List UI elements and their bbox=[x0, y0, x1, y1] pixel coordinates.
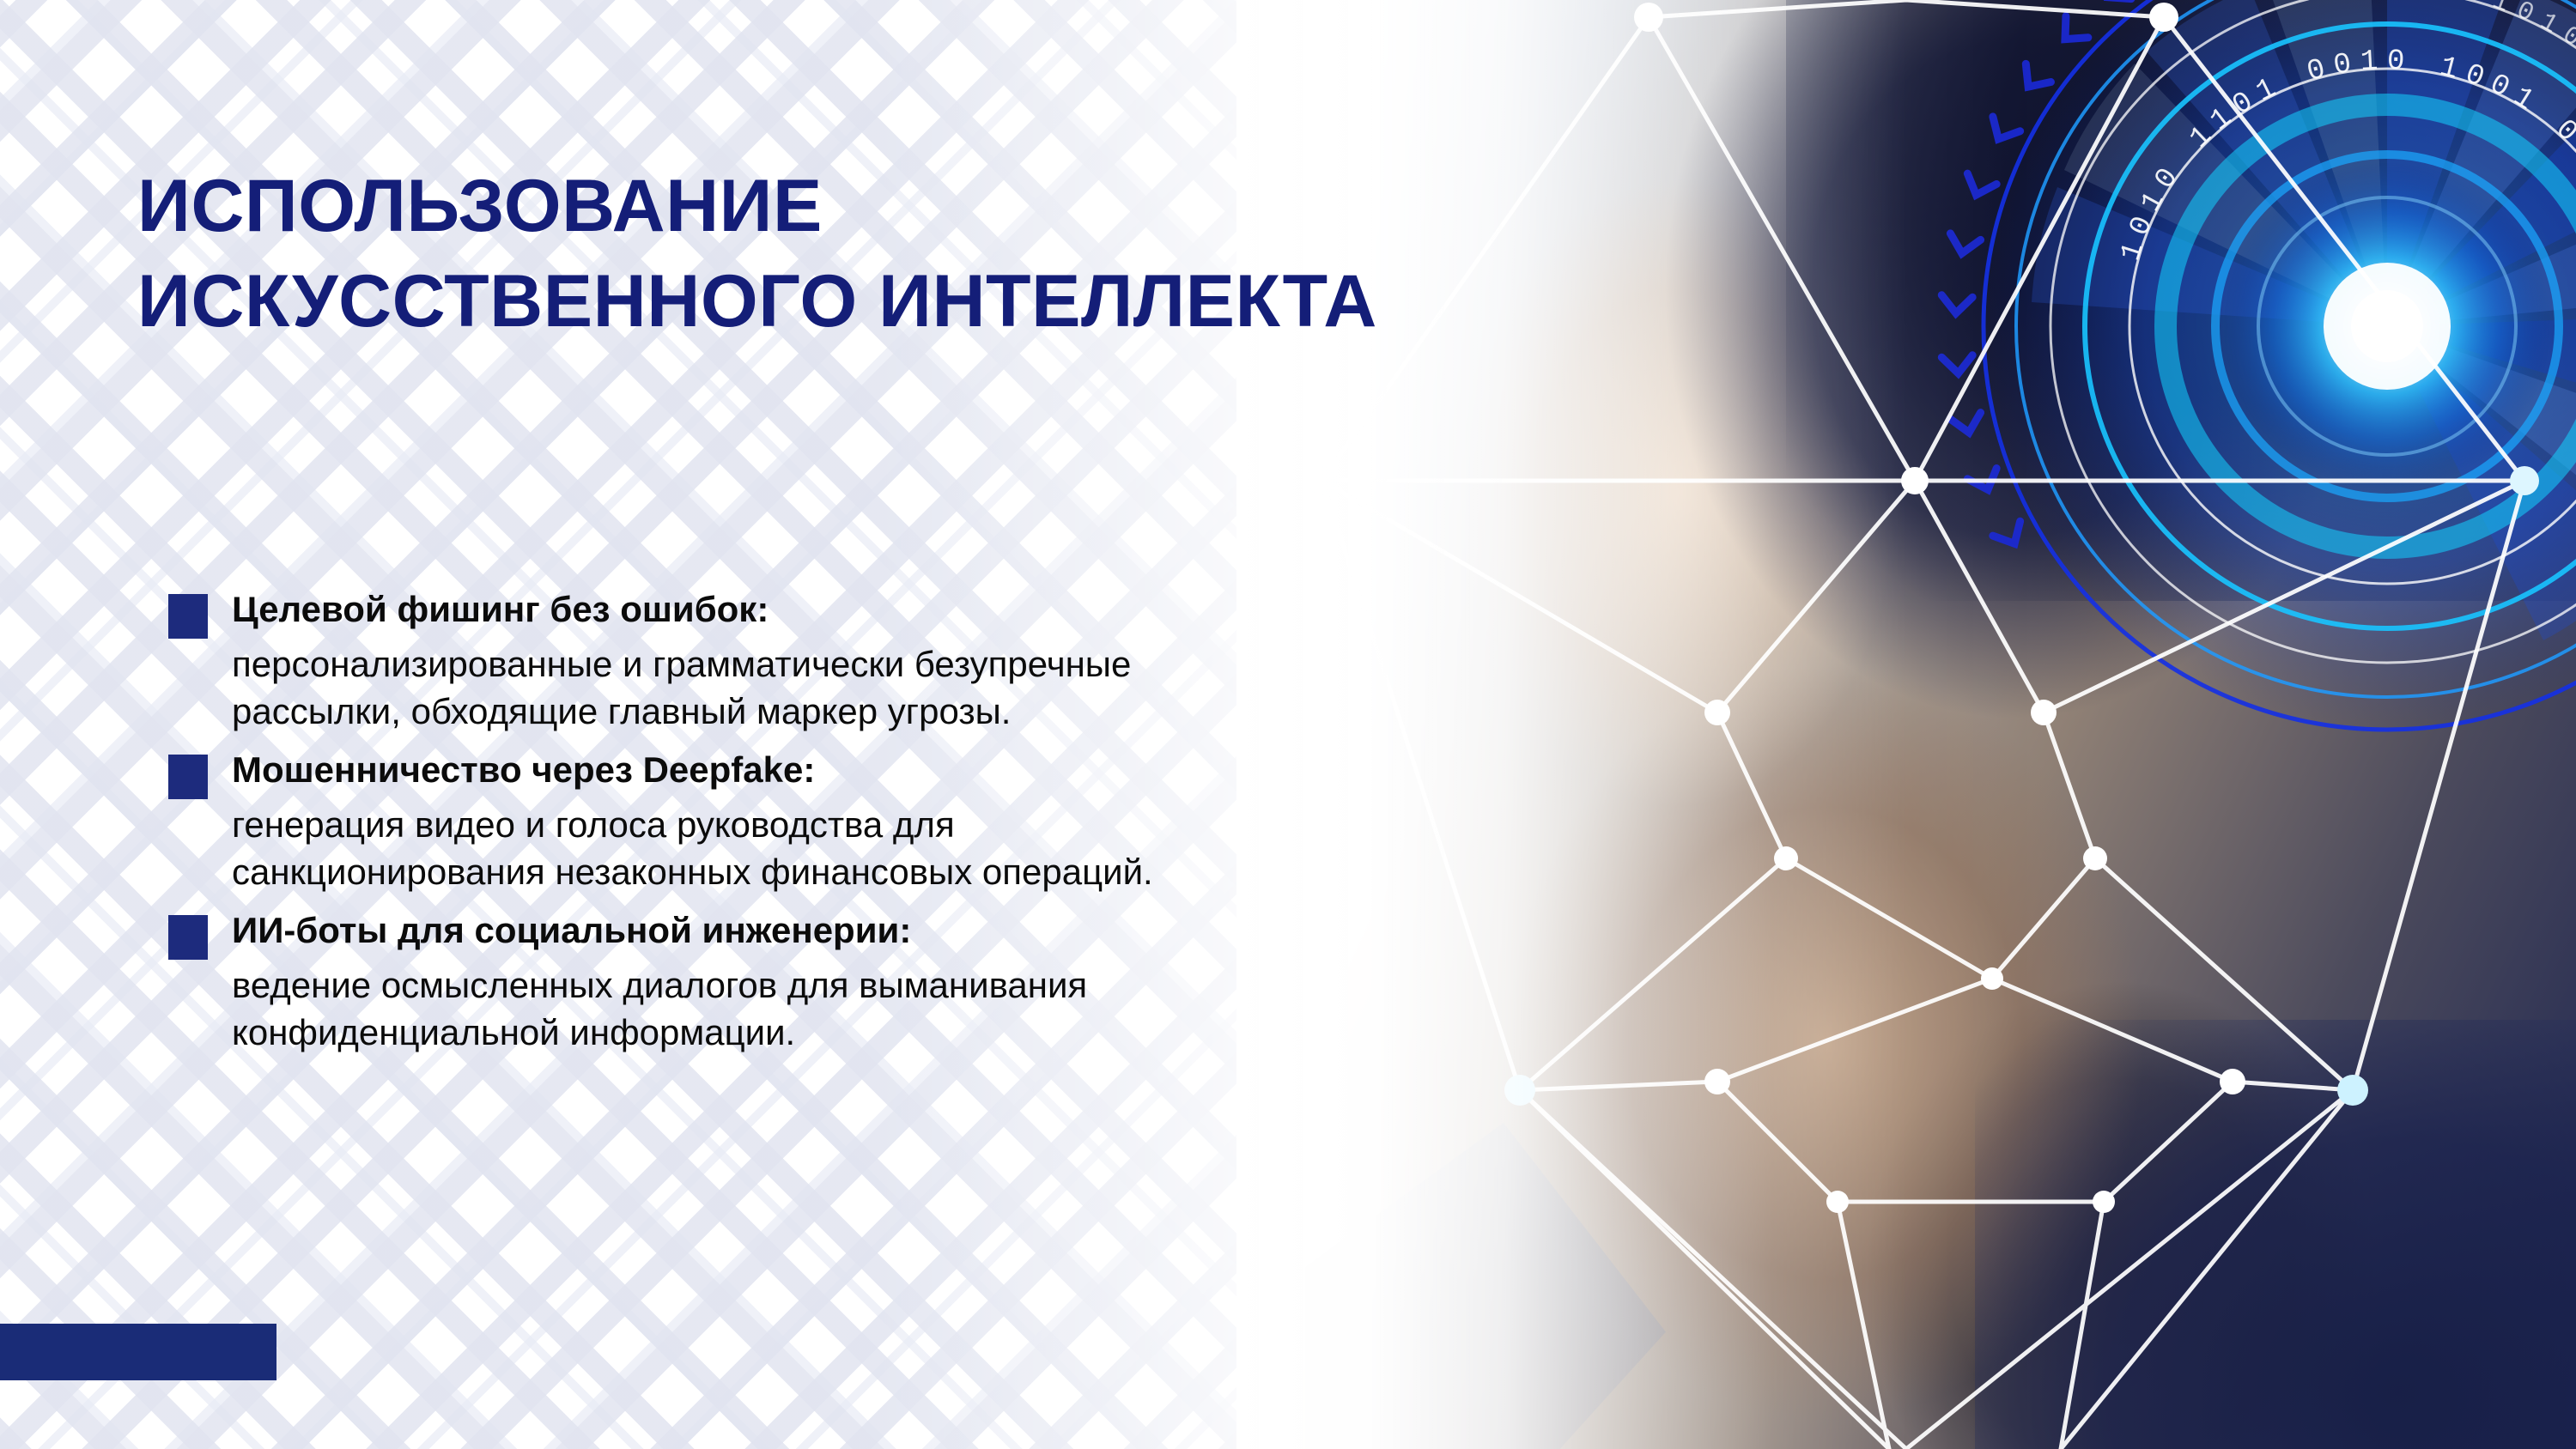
bullet-square-icon bbox=[168, 915, 208, 960]
bullet-body: персонализированные и грамматически безу… bbox=[232, 640, 1680, 736]
bullet-square-icon bbox=[168, 594, 208, 639]
bullet-heading-row: Целевой фишинг без ошибок: bbox=[168, 589, 1680, 639]
bullet-body: ведение осмысленных диалогов для выманив… bbox=[232, 961, 1680, 1057]
page-title: ИСПОЛЬЗОВАНИЕ ИСКУССТВЕННОГО ИНТЕЛЛЕКТА bbox=[137, 168, 1649, 341]
bullet-body-line: персонализированные и грамматически безу… bbox=[232, 640, 1680, 688]
bullet-body: генерация видео и голоса руководства для… bbox=[232, 801, 1680, 896]
bullet-heading: Целевой фишинг без ошибок: bbox=[232, 589, 769, 629]
list-item: Мошенничество через Deepfake: генерация … bbox=[168, 749, 1680, 896]
bullet-body-line: рассылки, обходящие главный маркер угроз… bbox=[232, 688, 1680, 735]
bullet-heading-row: ИИ-боты для социальной инженерии: bbox=[168, 910, 1680, 960]
bullet-body-line: санкционирования незаконных финансовых о… bbox=[232, 848, 1680, 895]
bullet-square-icon bbox=[168, 755, 208, 799]
title-line-2: ИСКУССТВЕННОГО ИНТЕЛЛЕКТА bbox=[137, 264, 1649, 340]
accent-bar bbox=[0, 1324, 276, 1380]
bullet-heading-row: Мошенничество через Deepfake: bbox=[168, 749, 1680, 799]
bullet-list: Целевой фишинг без ошибок: персонализиро… bbox=[168, 589, 1680, 1070]
bullet-heading: ИИ-боты для социальной инженерии: bbox=[232, 910, 911, 950]
bullet-body-line: генерация видео и голоса руководства для bbox=[232, 801, 1680, 848]
bullet-body-line: ведение осмысленных диалогов для выманив… bbox=[232, 961, 1680, 1009]
bullet-body-line: конфиденциальной информации. bbox=[232, 1009, 1680, 1056]
title-line-1: ИСПОЛЬЗОВАНИЕ bbox=[137, 168, 1649, 245]
bullet-heading: Мошенничество через Deepfake: bbox=[232, 749, 815, 790]
list-item: Целевой фишинг без ошибок: персонализиро… bbox=[168, 589, 1680, 736]
slide-root: 1010 1101 0010 1001 0110 1010 1101 0010 … bbox=[0, 0, 2576, 1449]
list-item: ИИ-боты для социальной инженерии: ведени… bbox=[168, 910, 1680, 1057]
